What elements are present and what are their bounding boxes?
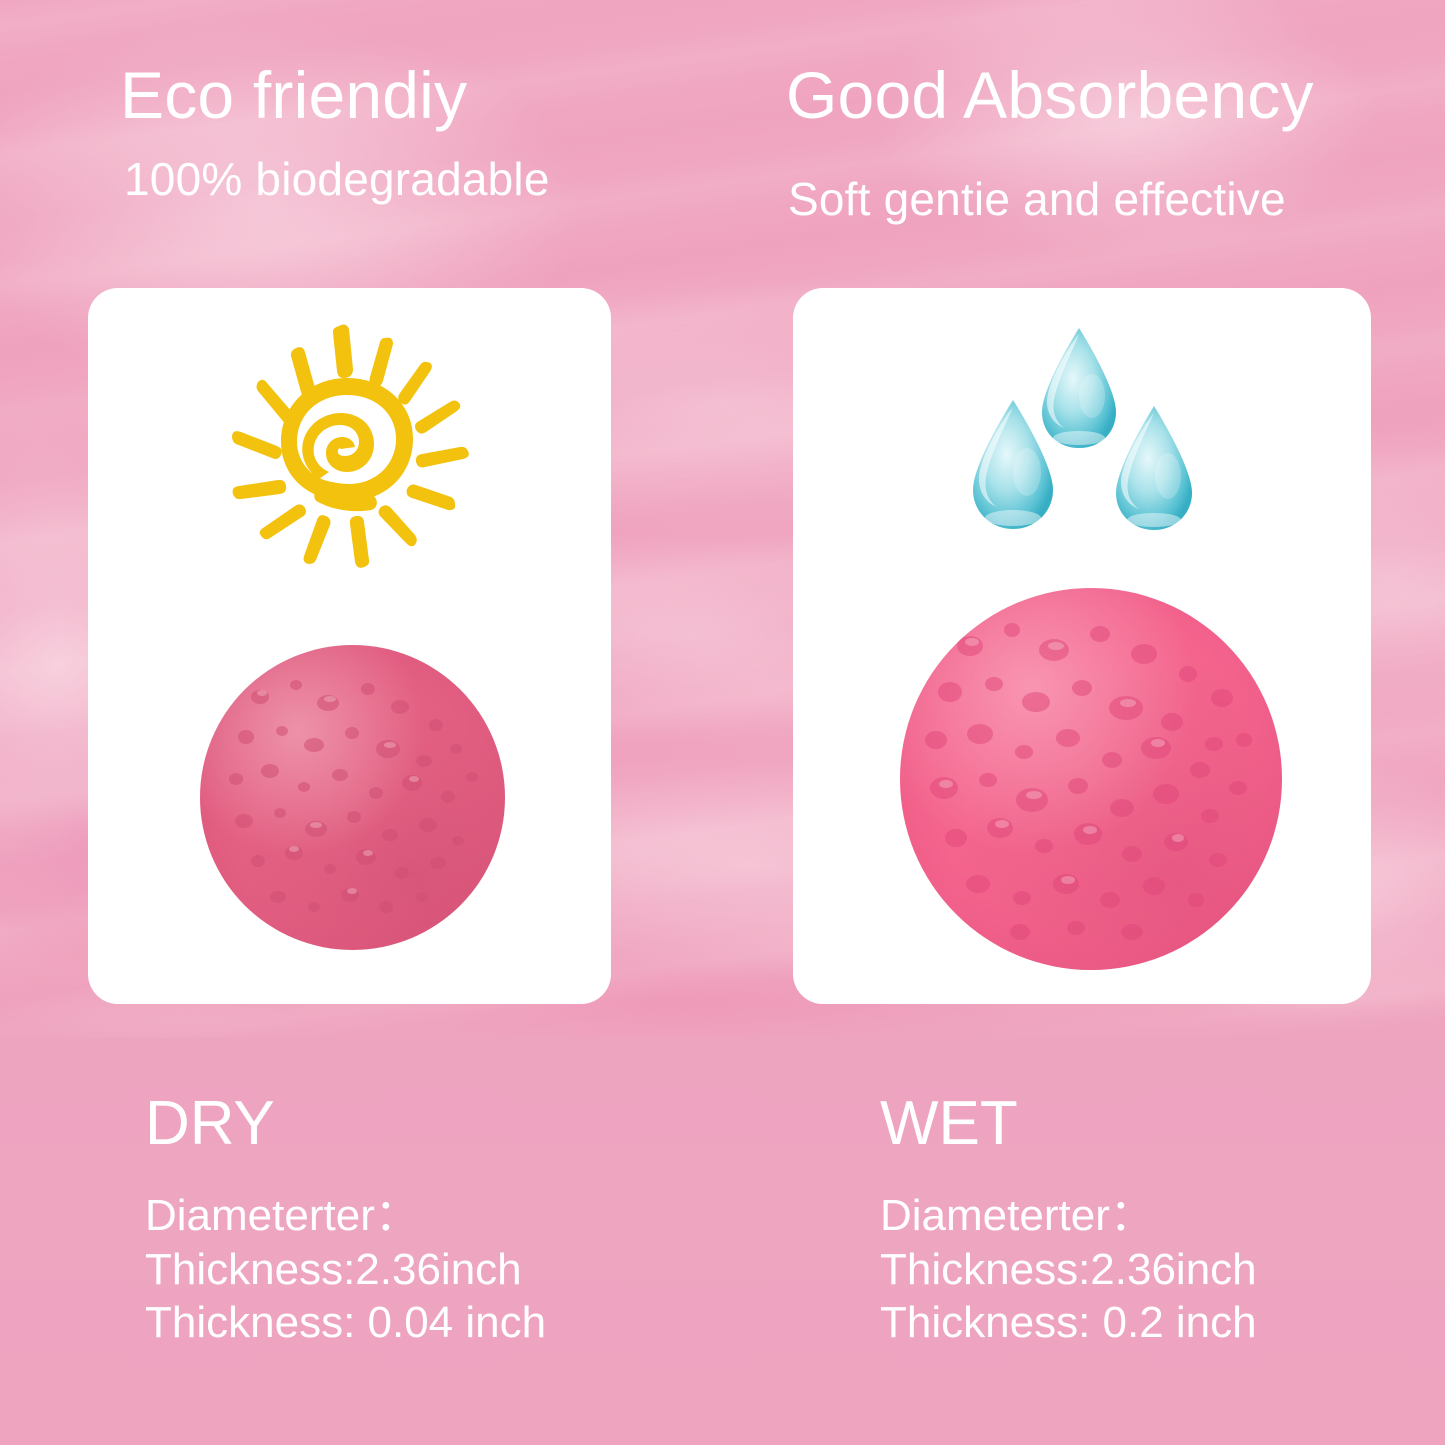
- dry-diameter-line: Diameterter：: [145, 1189, 546, 1243]
- eco-feature-title: Eco friendiy: [120, 62, 467, 128]
- eco-feature-subtitle: 100% biodegradable: [124, 156, 550, 202]
- wet-state-label: WET: [880, 1093, 1257, 1155]
- dry-thickness-line-1: Thickness:2.36inch: [145, 1243, 546, 1297]
- wet-sponge-pores: [900, 588, 1282, 970]
- dry-state-label: DRY: [145, 1093, 546, 1155]
- absorbency-feature-subtitle: Soft gentie and effective: [788, 176, 1286, 222]
- sun-icon: [222, 318, 472, 573]
- wet-thickness-line-2: Thickness: 0.2 inch: [880, 1296, 1257, 1350]
- dry-spec-block: DRY Diameterter： Thickness:2.36inch Thic…: [145, 1093, 546, 1350]
- dry-sponge-image: [200, 645, 505, 950]
- dry-sponge-pores: [200, 645, 505, 950]
- wet-sponge-image: [900, 588, 1282, 970]
- dry-thickness-line-2: Thickness: 0.04 inch: [145, 1296, 546, 1350]
- wet-diameter-line: Diameterter：: [880, 1189, 1257, 1243]
- wet-spec-block: WET Diameterter： Thickness:2.36inch Thic…: [880, 1093, 1257, 1350]
- absorbency-feature-title: Good Absorbency: [786, 62, 1314, 128]
- water-droplet-icon: [967, 398, 1059, 531]
- water-droplet-icon: [1110, 404, 1198, 532]
- product-feature-graphic: Eco friendiy 100% biodegradable Good Abs…: [0, 0, 1445, 1445]
- wet-thickness-line-1: Thickness:2.36inch: [880, 1243, 1257, 1297]
